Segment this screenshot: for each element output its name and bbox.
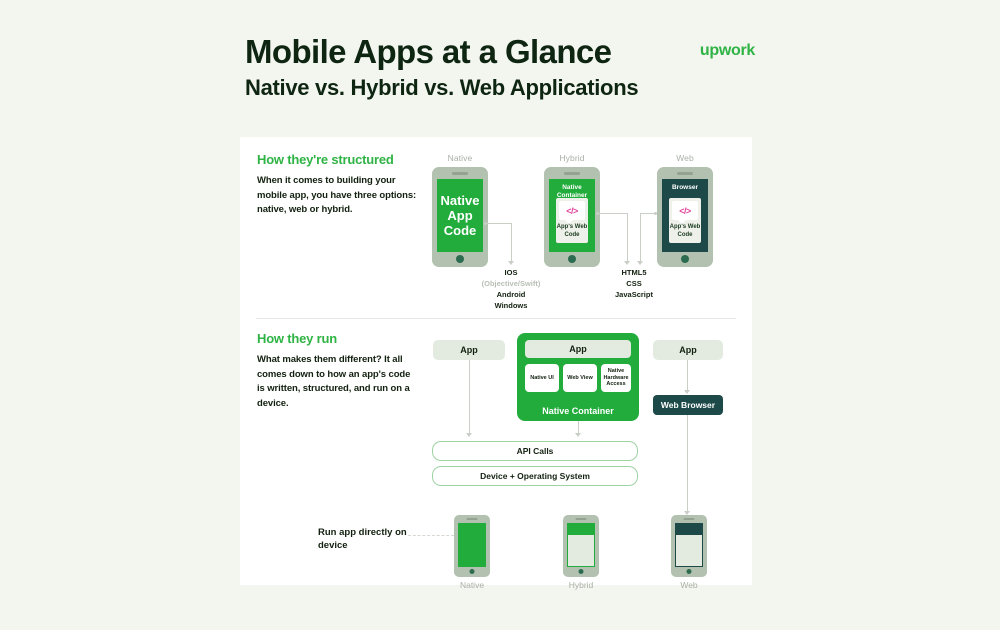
phone-home-button: [579, 569, 584, 574]
arrow-container-to-api-head: [575, 433, 581, 437]
stack-native-line2: (Objective/Swift): [451, 279, 571, 290]
dashed-connector: [408, 535, 454, 536]
connector-native-h: [487, 223, 511, 224]
phone-home-button: [681, 255, 689, 263]
arrow-native-to-api: [469, 360, 470, 433]
native-container-label: Native Container: [517, 406, 639, 416]
stack-web: HTML5 CSS JavaScript: [574, 268, 694, 301]
phone-home-button: [470, 569, 475, 574]
stack-web-line2: CSS: [574, 279, 694, 290]
arrow-app-to-browser-head: [684, 390, 690, 394]
phone-notch: [467, 518, 478, 520]
phone-home-button: [568, 255, 576, 263]
connector-native-v: [511, 223, 512, 261]
phone-home-button: [456, 255, 464, 263]
run-app-directly-label: Run app directly on device: [318, 526, 428, 553]
connector-web-arrow: [637, 261, 643, 265]
section-divider: [256, 318, 736, 319]
phone-home-button: [687, 569, 692, 574]
stack-native-line3: Android: [451, 290, 571, 301]
hybrid-card-label: App's Web Code: [556, 224, 588, 240]
column-caption-native: Native: [420, 153, 500, 163]
content-card: How they're structured When it comes to …: [240, 137, 752, 585]
arrow-container-to-api: [578, 421, 579, 433]
section-run-heading: How they run: [257, 331, 337, 346]
code-glyph: </>: [679, 206, 691, 216]
section-run-body: What makes them different? It all comes …: [257, 353, 412, 412]
phone-notch: [564, 172, 580, 175]
bottom-caption-web: Web: [654, 580, 724, 590]
app-pill-hybrid: App: [525, 340, 631, 358]
arrow-native-to-api-head: [466, 433, 472, 437]
native-container-block: App Native UI Web View Native Hardware A…: [517, 333, 639, 421]
stack-native-line4: Windows: [451, 301, 571, 312]
connector-native-arrow: [508, 261, 514, 265]
code-icon: </>: [672, 201, 698, 220]
section-structured-heading: How they're structured: [257, 152, 394, 167]
phone-native-structured: Native App Code: [432, 167, 488, 267]
page-title: Mobile Apps at a Glance: [245, 34, 755, 70]
code-icon: </>: [559, 201, 585, 220]
bottom-phone-web: [671, 515, 707, 577]
app-pill-native: App: [433, 340, 505, 360]
stack-native: IOS (Objective/Swift) Android Windows: [451, 268, 571, 312]
arrow-browser-to-phone: [687, 415, 688, 511]
code-glyph: </>: [566, 206, 578, 216]
subbox-native-ui: Native UI: [525, 364, 559, 392]
phone-screen: Native Container </> App's Web Code: [549, 179, 595, 252]
phone-notch: [677, 172, 693, 175]
bar-device-os: Device + Operating System: [432, 466, 638, 486]
connector-hybrid-v: [627, 213, 628, 261]
phone-screen-topbar: [568, 524, 594, 535]
web-card-label: App's Web Code: [669, 224, 701, 240]
web-browser-pill: Web Browser: [653, 395, 723, 415]
column-caption-web: Web: [645, 153, 725, 163]
phone-hybrid-structured: Native Container </> App's Web Code: [544, 167, 600, 267]
bottom-phone-native: [454, 515, 490, 577]
hybrid-web-code-card: </> App's Web Code: [556, 198, 588, 243]
subbox-native-hardware-access: Native Hardware Access: [601, 364, 631, 392]
stack-web-line1: HTML5: [574, 268, 694, 279]
page-subtitle: Native vs. Hybrid vs. Web Applications: [245, 76, 755, 100]
section-structured-body: When it comes to building your mobile ap…: [257, 174, 419, 218]
connector-hybrid-arrow: [624, 261, 630, 265]
web-code-card: </> App's Web Code: [669, 198, 701, 243]
bottom-caption-hybrid: Hybrid: [546, 580, 616, 590]
phone-web-structured: Browser </> App's Web Code: [657, 167, 713, 267]
connector-hybrid-h: [599, 213, 627, 214]
phone-notch: [452, 172, 468, 175]
bottom-caption-native: Native: [437, 580, 507, 590]
phone-screen: Native App Code: [437, 179, 483, 252]
phone-screen-topbar: [676, 524, 702, 535]
connector-dot-web: [654, 212, 657, 215]
subbox-web-view: Web View: [563, 364, 597, 392]
stack-web-line3: JavaScript: [574, 290, 694, 301]
upwork-logo: upwork: [700, 42, 755, 60]
column-caption-hybrid: Hybrid: [532, 153, 612, 163]
phone-screen: [567, 523, 595, 567]
phone-screen: [675, 523, 703, 567]
poster-root: Mobile Apps at a Glance Native vs. Hybri…: [0, 0, 1000, 630]
header: Mobile Apps at a Glance Native vs. Hybri…: [245, 34, 755, 124]
connector-web-h: [640, 213, 654, 214]
bottom-phone-hybrid: [563, 515, 599, 577]
bar-api-calls: API Calls: [432, 441, 638, 461]
phone-notch: [576, 518, 587, 520]
web-screen-label: Browser: [662, 184, 708, 192]
arrow-app-to-browser: [687, 360, 688, 390]
native-app-code-label: Native App Code: [437, 193, 483, 239]
phone-screen: Browser </> App's Web Code: [662, 179, 708, 252]
stack-native-line1: IOS: [451, 268, 571, 279]
connector-web-v: [640, 213, 641, 261]
app-pill-web: App: [653, 340, 723, 360]
phone-screen: [458, 523, 486, 567]
phone-notch: [684, 518, 695, 520]
